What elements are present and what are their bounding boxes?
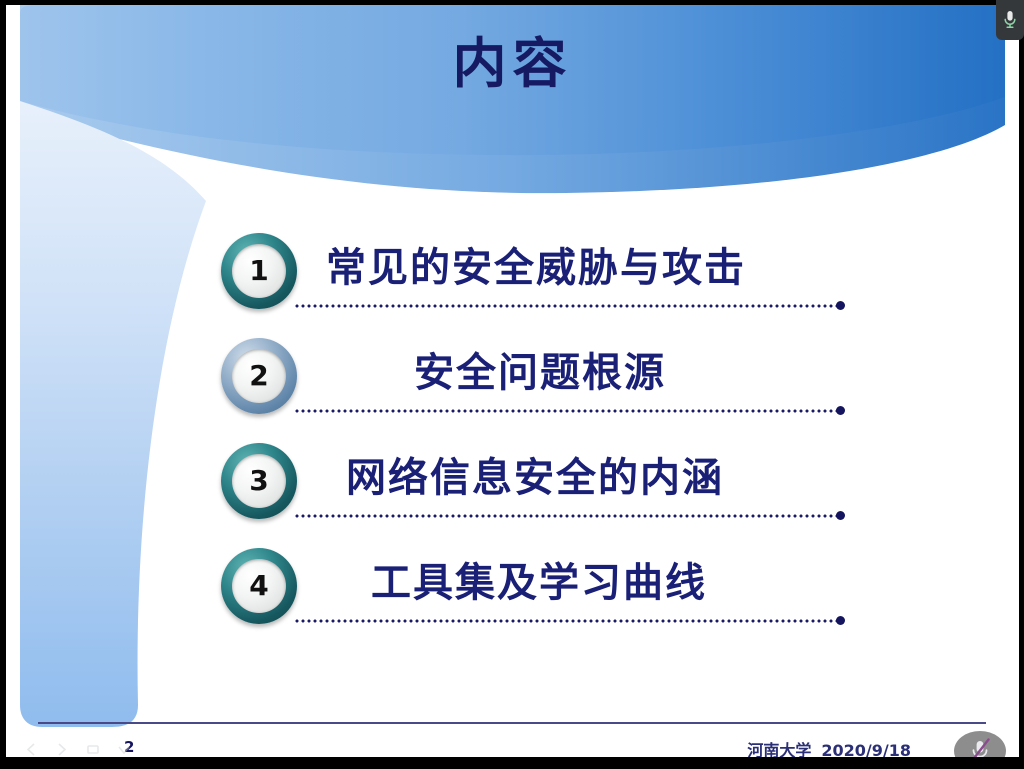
agenda-dotted-line-4	[294, 619, 840, 623]
microphone-muted-icon[interactable]	[954, 731, 1006, 757]
agenda-dotted-line-3	[294, 514, 840, 518]
agenda-badge-number-1: 1	[249, 257, 268, 285]
agenda-badge-inner-2: 2	[232, 349, 286, 403]
slideshow-controls[interactable]	[24, 743, 131, 756]
next-slide-icon[interactable]	[55, 743, 69, 756]
agenda-badge-number-3: 3	[249, 467, 268, 495]
agenda-badge-inner-3: 3	[232, 454, 286, 508]
footer-date: 2020/9/18	[821, 741, 911, 757]
footer-meta: 河南大学2020/9/18	[747, 737, 911, 757]
agenda-dotted-line-1	[294, 304, 840, 308]
footer-organization: 河南大学	[747, 741, 811, 757]
agenda-badge-inner-1: 1	[232, 244, 286, 298]
agenda-badge-3: 3	[221, 443, 297, 519]
agenda-item-label-4: 工具集及学习曲线	[371, 550, 707, 608]
agenda-item-1[interactable]: 1 常见的安全威胁与攻击	[6, 227, 1019, 332]
agenda-dotted-line-2	[294, 409, 840, 413]
agenda-item-2[interactable]: 2 安全问题根源	[6, 332, 1019, 437]
agenda-end-dot-2	[836, 406, 845, 415]
microphone-icon[interactable]	[996, 0, 1024, 40]
screen-letterbox: 内容 1 常见的安全威胁与攻击 2 安全问题根源	[0, 0, 1024, 769]
agenda-badge-number-4: 4	[249, 572, 268, 600]
agenda-item-label-2: 安全问题根源	[414, 340, 666, 398]
agenda-item-3[interactable]: 3 网络信息安全的内涵	[6, 437, 1019, 542]
agenda-item-label-3: 网络信息安全的内涵	[346, 445, 724, 503]
agenda-end-dot-1	[836, 301, 845, 310]
footer-divider	[38, 722, 986, 724]
agenda-item-label-1: 常见的安全威胁与攻击	[326, 235, 746, 293]
previous-slide-icon[interactable]	[24, 743, 38, 756]
page-title: 内容	[6, 19, 1019, 98]
agenda-badge-inner-4: 4	[232, 559, 286, 613]
agenda-badge-2: 2	[221, 338, 297, 414]
agenda-badge-4: 4	[221, 548, 297, 624]
agenda-end-dot-4	[836, 616, 845, 625]
pen-tool-icon[interactable]	[86, 743, 100, 756]
agenda-list: 1 常见的安全威胁与攻击 2 安全问题根源	[6, 227, 1019, 647]
agenda-item-4[interactable]: 4 工具集及学习曲线	[6, 542, 1019, 647]
presentation-slide: 内容 1 常见的安全威胁与攻击 2 安全问题根源	[6, 5, 1019, 757]
agenda-badge-number-2: 2	[249, 362, 268, 390]
agenda-end-dot-3	[836, 511, 845, 520]
agenda-badge-1: 1	[221, 233, 297, 309]
menu-icon[interactable]	[117, 743, 131, 756]
